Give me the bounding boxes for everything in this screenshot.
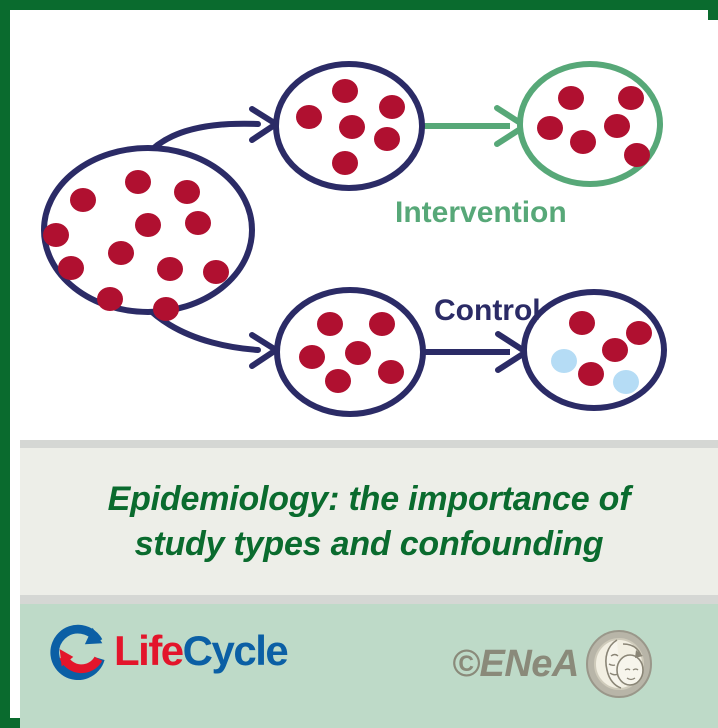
title-line-2: study types and confounding: [135, 525, 604, 563]
lifecycle-logo: LifeCycle: [50, 620, 287, 682]
control-outcome-ellipse: [524, 292, 664, 408]
footer-panel: LifeCycle ©ENeA: [20, 604, 718, 728]
blue-dot: [613, 370, 639, 394]
red-dot: [379, 95, 405, 119]
red-dot: [332, 79, 358, 103]
population-ellipse: [43, 148, 252, 321]
enea-mother-child-icon: [583, 628, 655, 700]
control-label: Control: [434, 294, 541, 327]
red-dot: [296, 105, 322, 129]
red-dot: [299, 345, 325, 369]
arrow-control-to-outcome: [423, 334, 526, 370]
lifecycle-word-life: Life: [114, 627, 183, 674]
red-dot: [578, 362, 604, 386]
enea-wordmark: ©ENeA: [452, 645, 579, 683]
red-dot: [70, 188, 96, 212]
red-dot: [185, 211, 211, 235]
enea-logo: ©ENeA: [452, 628, 655, 700]
lifecycle-word-cycle: Cycle: [183, 627, 288, 674]
red-dot: [626, 321, 652, 345]
title-line-1: Epidemiology: the importance of: [108, 480, 631, 518]
red-dot: [618, 86, 644, 110]
red-dot: [97, 287, 123, 311]
red-dot: [569, 311, 595, 335]
red-dot: [135, 213, 161, 237]
red-dot: [174, 180, 200, 204]
red-dot: [317, 312, 343, 336]
slide-root: Intervention Control Epidemiology: the i…: [0, 0, 718, 728]
red-dot: [125, 170, 151, 194]
study-design-diagram: Intervention Control: [20, 20, 718, 440]
red-dot: [153, 297, 179, 321]
red-dot: [369, 312, 395, 336]
title-panel: Epidemiology: the importance of study ty…: [20, 448, 718, 595]
lifecycle-circular-arrow-icon: [50, 620, 112, 682]
red-dot: [570, 130, 596, 154]
red-dot: [558, 86, 584, 110]
intervention-label: Intervention: [395, 196, 567, 229]
red-dot: [339, 115, 365, 139]
red-dot: [345, 341, 371, 365]
intervention-outcome-ellipse: [520, 64, 660, 184]
red-dot: [602, 338, 628, 362]
arrow-intervention-to-outcome: [424, 108, 525, 144]
red-dot: [157, 257, 183, 281]
page-title: Epidemiology: the importance of study ty…: [92, 477, 647, 565]
red-dot: [624, 143, 650, 167]
lifecycle-wordmark: LifeCycle: [114, 630, 287, 672]
blue-dot: [551, 349, 577, 373]
red-dot: [58, 256, 84, 280]
red-dot: [378, 360, 404, 384]
red-dot: [203, 260, 229, 284]
red-dot: [374, 127, 400, 151]
divider-bottom: [20, 595, 718, 604]
red-dot: [43, 223, 69, 247]
red-dot: [537, 116, 563, 140]
intervention-group-ellipse: [276, 64, 422, 188]
divider-top: [20, 440, 718, 448]
red-dot: [108, 241, 134, 265]
control-group-ellipse: [277, 290, 423, 414]
diagram-panel: Intervention Control: [20, 20, 718, 440]
red-dot: [332, 151, 358, 175]
red-dot: [325, 369, 351, 393]
red-dot: [604, 114, 630, 138]
